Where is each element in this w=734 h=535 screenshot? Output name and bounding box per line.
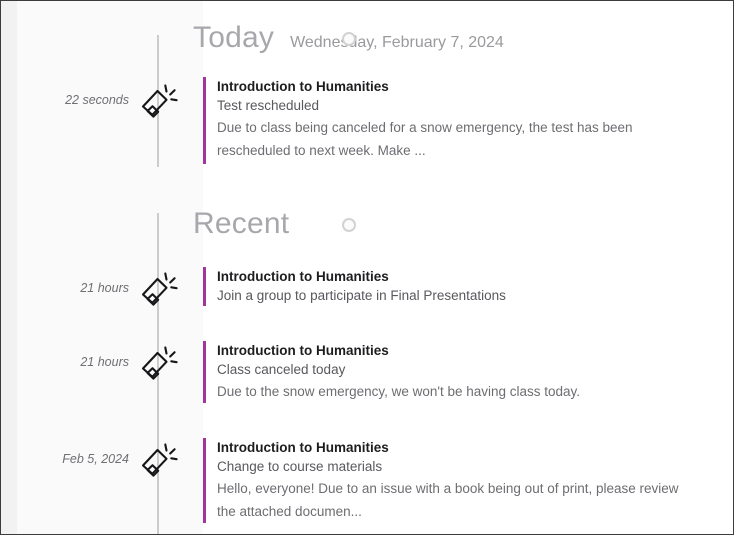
section-title-recent: Recent <box>193 207 289 241</box>
notification-message: Hello, everyone! Due to an issue with a … <box>217 477 679 523</box>
notification-subject: Test rescheduled <box>217 96 713 116</box>
notification-body[interactable]: Introduction to Humanities Test reschedu… <box>203 77 713 164</box>
notification-body[interactable]: Introduction to Humanities Class cancele… <box>203 341 713 403</box>
section-title-today: Today <box>193 21 274 55</box>
megaphone-icon <box>135 80 179 124</box>
notification-subject: Join a group to participate in Final Pre… <box>217 286 713 306</box>
notification-timestamp: 21 hours <box>1 355 129 369</box>
notification-timestamp: 21 hours <box>1 281 129 295</box>
notifications-page: Today Wednesday, February 7, 2024 22 sec… <box>0 0 734 535</box>
notification-timestamp: Feb 5, 2024 <box>1 452 129 466</box>
timeline-dot-icon <box>342 32 356 46</box>
section-header-recent: Recent <box>193 207 305 241</box>
megaphone-icon <box>135 342 179 386</box>
section-header-today: Today Wednesday, February 7, 2024 <box>193 21 504 55</box>
notification-subject: Change to course materials <box>217 457 713 477</box>
section-date-today: Wednesday, February 7, 2024 <box>290 34 504 52</box>
notification-body[interactable]: Introduction to Humanities Join a group … <box>203 267 713 306</box>
notification-subject: Class canceled today <box>217 360 713 380</box>
notification-course: Introduction to Humanities <box>217 77 713 96</box>
notification-body[interactable]: Introduction to Humanities Change to cou… <box>203 438 713 523</box>
notification-course: Introduction to Humanities <box>217 267 713 286</box>
notification-timestamp: 22 seconds <box>1 93 129 107</box>
megaphone-icon <box>135 268 179 312</box>
timeline-dot-icon <box>342 218 356 232</box>
notification-course: Introduction to Humanities <box>217 341 713 360</box>
notification-message: Due to the snow emergency, we won't be h… <box>217 380 713 403</box>
notification-course: Introduction to Humanities <box>217 438 713 457</box>
megaphone-icon <box>135 439 179 483</box>
notification-message: Due to class being canceled for a snow e… <box>217 116 669 162</box>
